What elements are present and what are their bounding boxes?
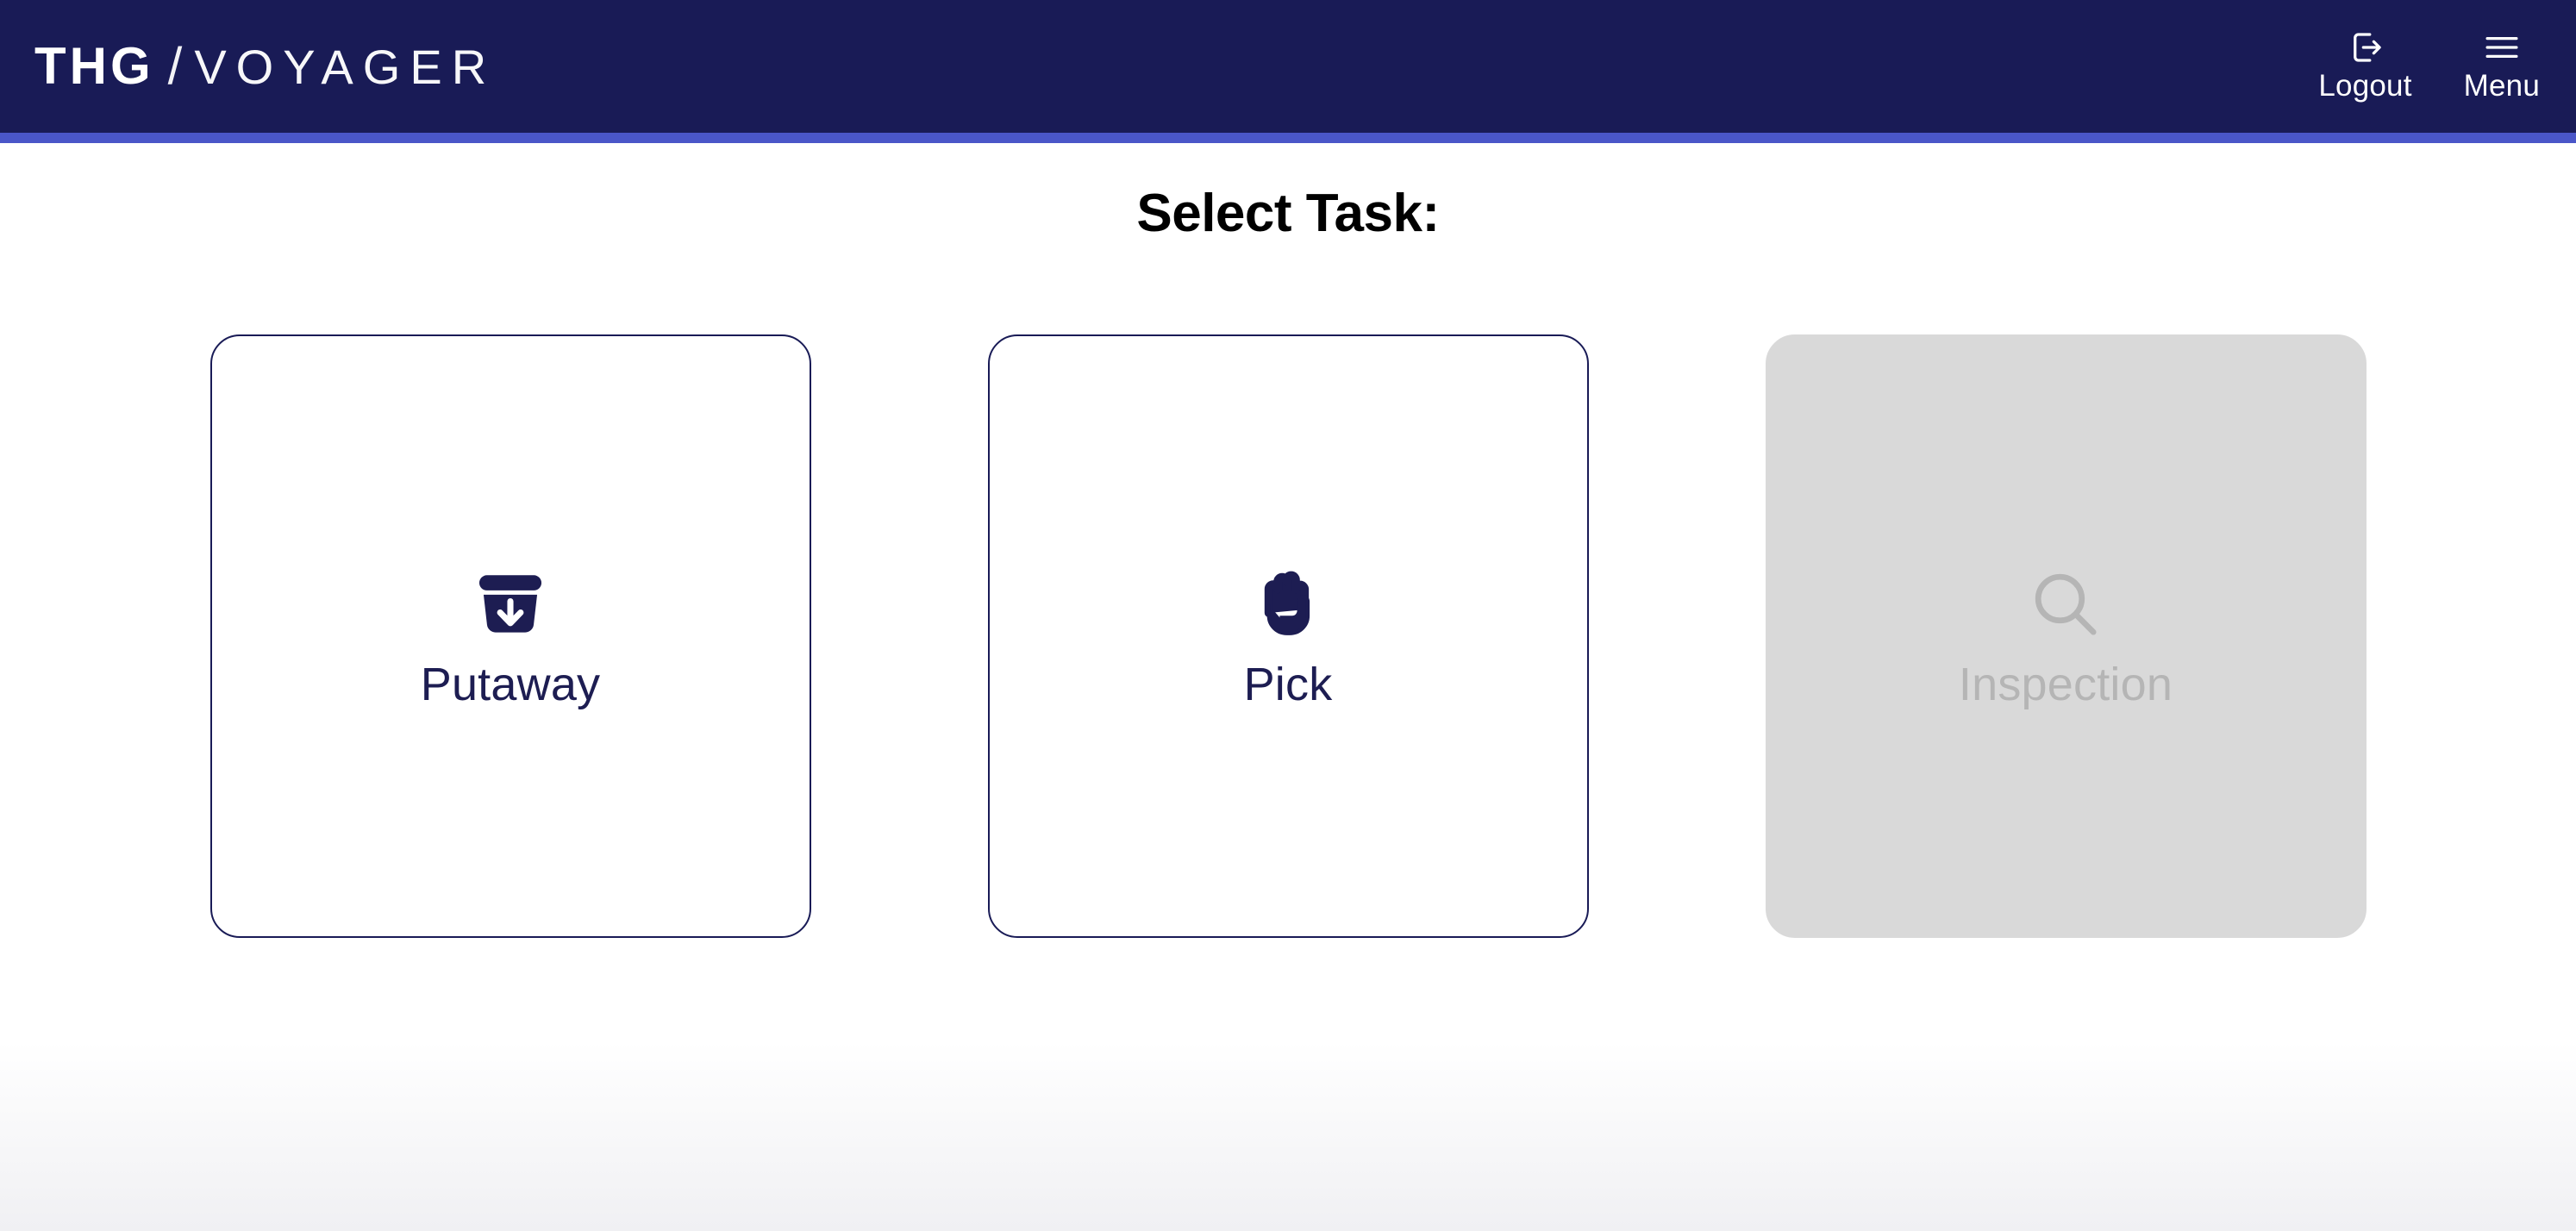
magnifying-glass-icon [2026, 563, 2105, 646]
brand-secondary-text: VOYAGER [194, 43, 496, 91]
logout-icon [2346, 28, 2385, 67]
menu-button[interactable]: Menu [2459, 26, 2545, 104]
brand-separator-text: / [168, 41, 183, 92]
app-header: THG / VOYAGER Logout Menu [0, 0, 2576, 143]
task-grid: Putaway Pick Inspection [0, 334, 2576, 938]
menu-label: Menu [2464, 71, 2540, 103]
task-card-putaway[interactable]: Putaway [210, 334, 811, 938]
archive-box-down-arrow-icon [471, 563, 550, 646]
page-title: Select Task: [0, 183, 2576, 244]
task-label-pick: Pick [1244, 659, 1333, 710]
brand-logo: THG / VOYAGER [34, 41, 496, 92]
hand-icon [1248, 563, 1328, 646]
page-bottom-gradient [0, 1041, 2576, 1231]
task-label-putaway: Putaway [421, 659, 601, 710]
task-label-inspection: Inspection [1959, 659, 2173, 710]
logout-label: Logout [2318, 71, 2411, 103]
main-content: Select Task: Putaway Pick [0, 143, 2576, 938]
brand-primary-text: THG [34, 41, 154, 92]
logout-button[interactable]: Logout [2313, 26, 2417, 104]
task-card-pick[interactable]: Pick [988, 334, 1589, 938]
header-actions: Logout Menu [2313, 26, 2545, 108]
hamburger-menu-icon [2482, 28, 2522, 67]
task-card-inspection: Inspection [1766, 334, 2367, 938]
